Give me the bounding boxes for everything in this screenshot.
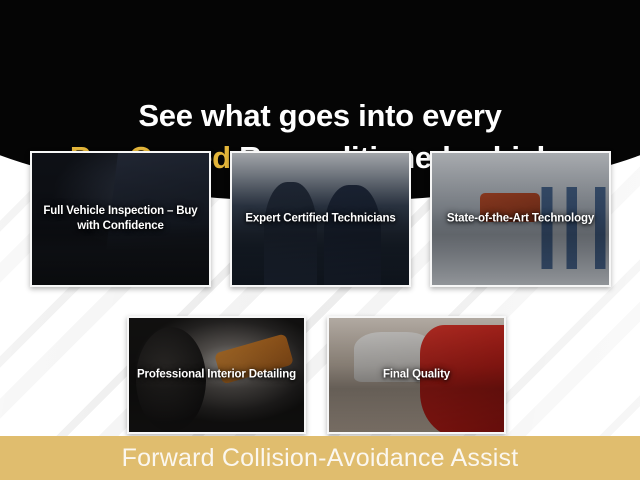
card-label: Final Quality [333, 367, 500, 382]
card-state-of-the-art-technology[interactable]: State-of-the-Art Technology [430, 151, 611, 287]
card-final-quality[interactable]: Final Quality [327, 316, 506, 434]
bottom-banner-text: Forward Collision-Avoidance Assist [122, 444, 519, 473]
card-expert-certified-technicians[interactable]: Expert Certified Technicians [230, 151, 411, 287]
bottom-banner: Forward Collision-Avoidance Assist [0, 436, 640, 480]
headline-line-1: See what goes into every [138, 95, 501, 136]
card-label: Expert Certified Technicians [236, 211, 405, 226]
card-label: State-of-the-Art Technology [436, 211, 605, 226]
card-full-vehicle-inspection[interactable]: Full Vehicle Inspection – Buy with Confi… [30, 151, 211, 287]
card-label: Professional Interior Detailing [133, 367, 300, 382]
card-professional-interior-detailing[interactable]: Professional Interior Detailing [127, 316, 306, 434]
promo-graphic: See what goes into every Pre-Owned Recon… [0, 0, 640, 480]
card-label: Full Vehicle Inspection – Buy with Confi… [36, 204, 205, 234]
